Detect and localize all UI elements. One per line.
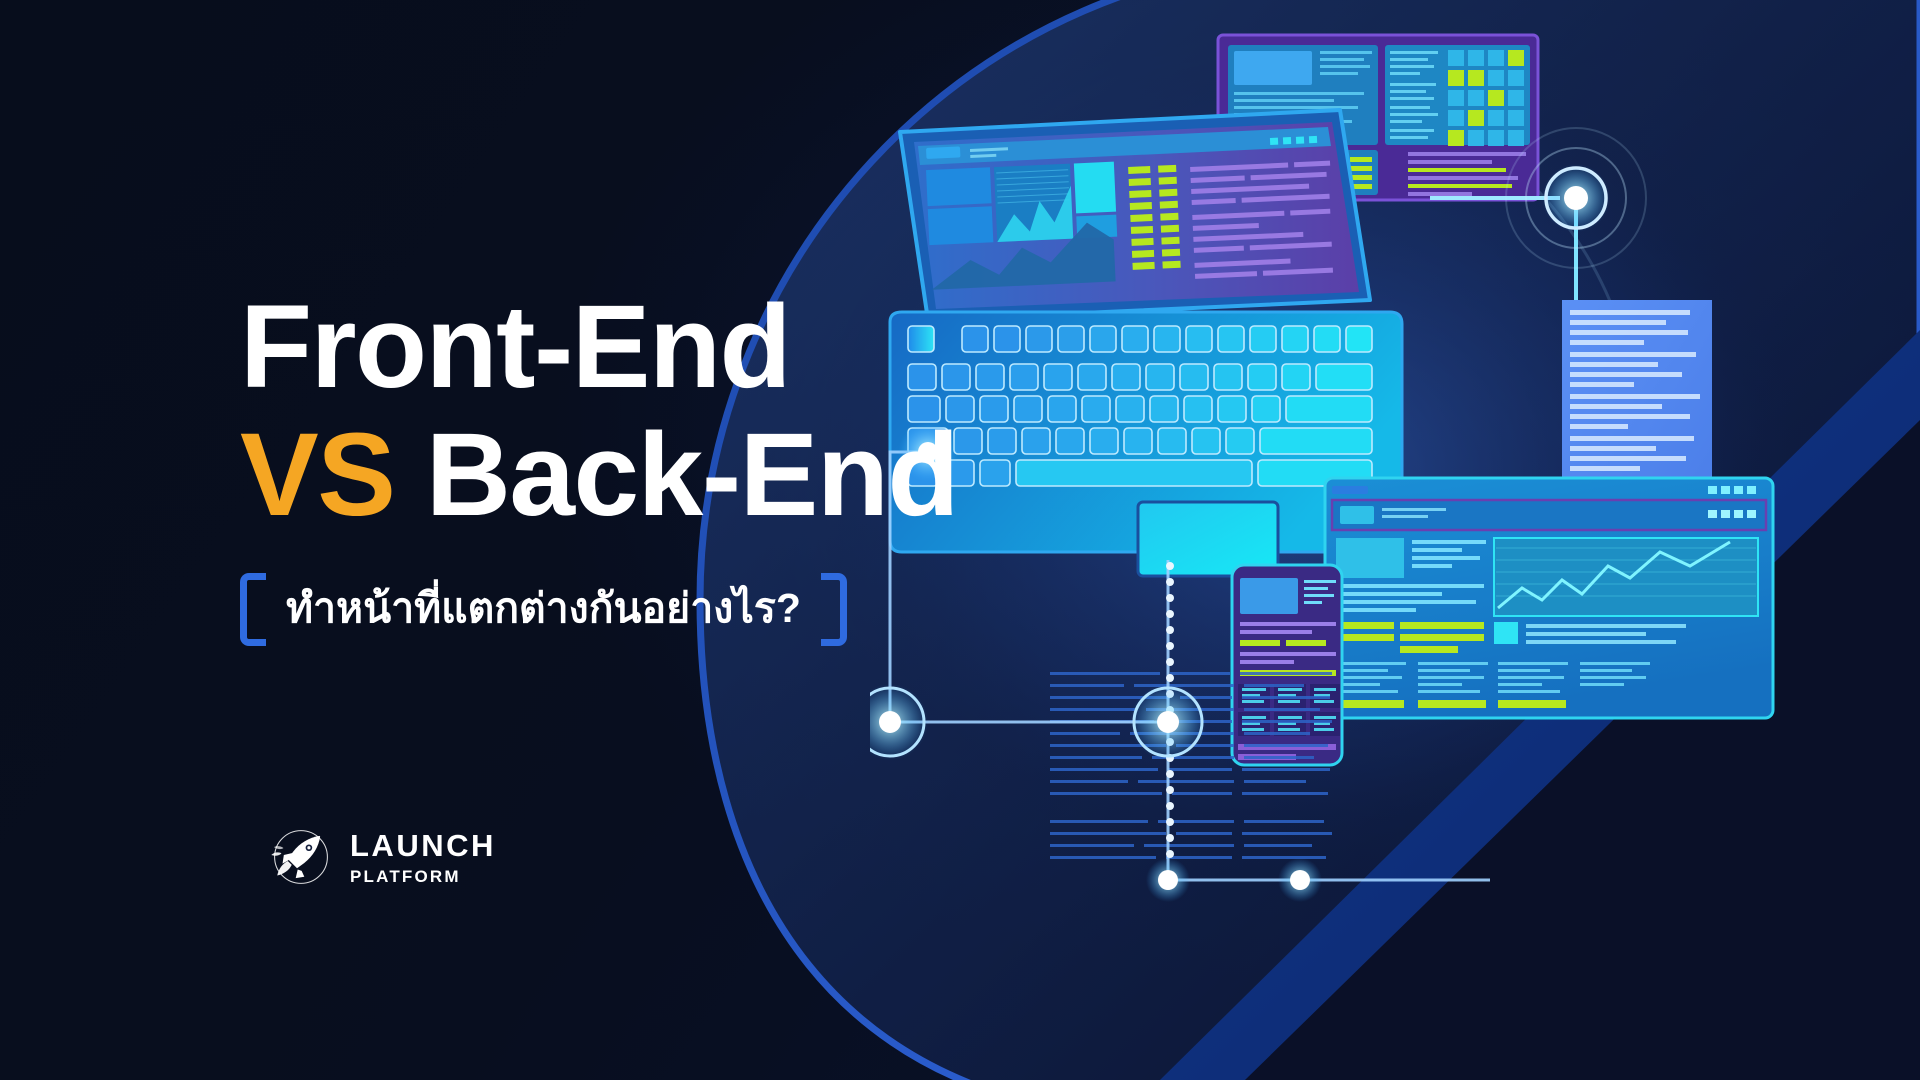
logo-wordmark: LAUNCH PLATFORM: [350, 830, 496, 885]
headline-vs: VS: [240, 409, 394, 541]
headline-line-2: VS Back-End: [240, 418, 940, 532]
logo-title: LAUNCH: [350, 830, 496, 861]
banner-canvas: Front-End VS Back-End ทำหน้าที่แตกต่างกั…: [0, 0, 1920, 1080]
subtitle-block: ทำหน้าที่แตกต่างกันอย่างไร?: [240, 573, 847, 646]
illustration-svg: [870, 0, 1920, 1080]
subtitle-text: ทำหน้าที่แตกต่างกันอย่างไร?: [286, 581, 801, 636]
brand-logo[interactable]: LAUNCH PLATFORM: [268, 824, 496, 890]
bracket-right-icon: [821, 573, 847, 646]
logo-subtitle: PLATFORM: [350, 868, 496, 885]
bracket-left-icon: [240, 573, 266, 646]
node-bottom-left: [1146, 858, 1190, 902]
hero-illustration: [870, 0, 1920, 1080]
headline-back-end: Back-End: [426, 409, 958, 541]
floating-window-right: [1325, 478, 1773, 718]
headline-block: Front-End VS Back-End ทำหน้าที่แตกต่างกั…: [240, 290, 940, 646]
rocket-icon: [268, 824, 334, 890]
node-right: [1506, 128, 1646, 268]
headline-line-1: Front-End: [240, 290, 940, 404]
node-mid-left: [870, 684, 928, 760]
node-center: [1130, 684, 1206, 760]
node-bottom-mid: [1278, 858, 1322, 902]
